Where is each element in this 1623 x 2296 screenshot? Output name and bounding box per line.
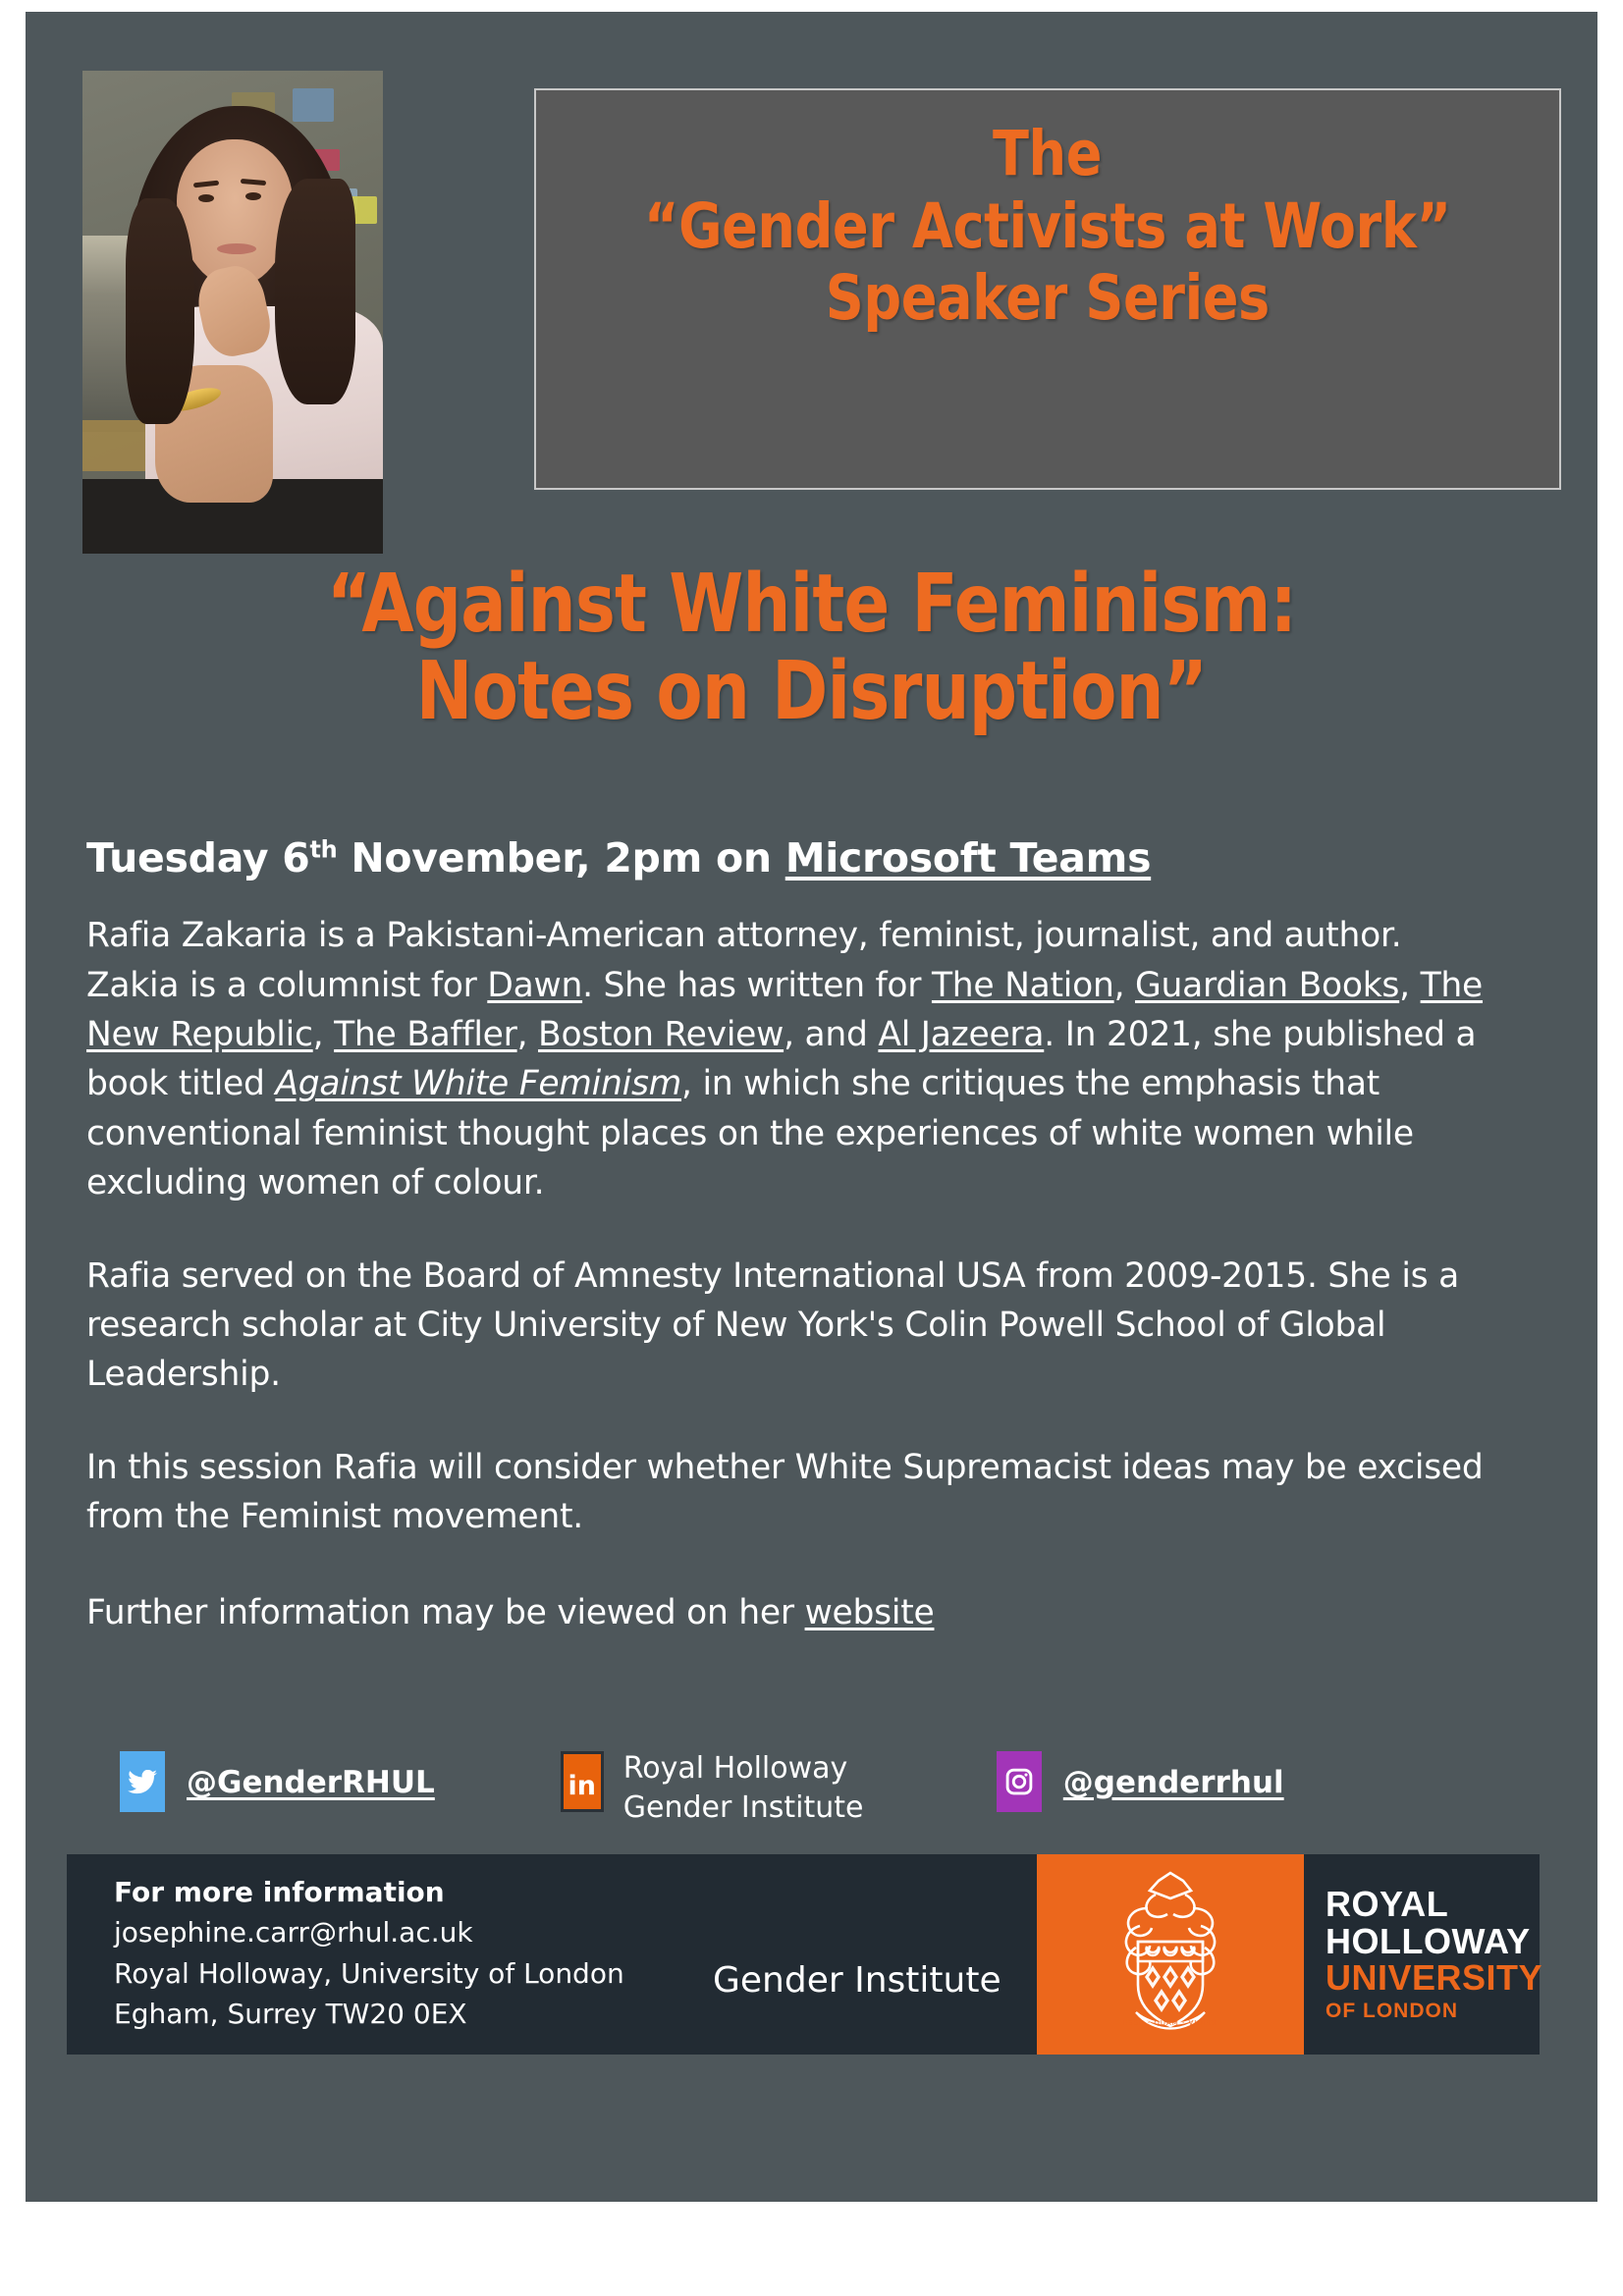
linkedin-page-label[interactable]: Royal Holloway Gender Institute [623,1749,918,1827]
page-title: “Against White Feminism: Notes on Disrup… [51,561,1572,735]
intro-text-4: , [1399,966,1420,1005]
further-prefix: Further information may be viewed on her [86,1593,805,1632]
series-line-1: The [994,118,1103,190]
date-middle: November, 2pm on [337,834,784,881]
wordmark-royal: ROYAL [1325,1886,1540,1922]
intro-text-2: . She has written for [582,966,932,1005]
link-dawn[interactable]: Dawn [487,966,582,1005]
intro-text-6: , [517,1015,538,1054]
photo-wall-note [293,88,334,122]
twitter-bird-icon[interactable] [120,1751,165,1812]
instagram-camera-icon[interactable] [997,1751,1042,1812]
intro-text-3: , [1114,966,1135,1005]
date-ordinal: th [309,835,337,863]
paragraph-session: In this session Rafia will consider whet… [86,1443,1490,1542]
photo-eye [198,194,214,202]
event-datetime-line: Tuesday 6th November, 2pm on Microsoft T… [86,834,1540,881]
paragraph-further-info: Further information may be viewed on her… [86,1588,1490,1637]
link-the-nation[interactable]: The Nation [932,966,1114,1005]
social-item-twitter[interactable]: @GenderRHUL [120,1751,435,1812]
crest-motto-text: ESSE · QUAM · VIDERI [1123,2019,1217,2027]
social-item-linkedin[interactable]: in Royal Holloway Gender Institute [561,1751,918,1827]
title-line-1: “Against White Feminism: [173,561,1450,649]
link-boston-review[interactable]: Boston Review [538,1015,784,1054]
instagram-handle[interactable]: @genderrhul [1063,1765,1284,1800]
gender-institute-label: Gender Institute [713,1960,1001,2001]
linkedin-icon[interactable]: in [561,1751,604,1812]
body-content: Tuesday 6th November, 2pm on Microsoft T… [86,834,1540,1638]
photo-lips [217,243,256,254]
intro-text-5: , [313,1015,334,1054]
book-title-against-white-feminism: Against White Feminism [275,1064,681,1103]
footer-heading: For more information [114,1872,624,1912]
footer-email[interactable]: josephine.carr@rhul.ac.uk [114,1912,624,1952]
linkedin-glyph: in [568,1773,596,1799]
wordmark-university: UNIVERSITY [1325,1959,1540,1996]
link-al-jazeera[interactable]: Al Jazeera [878,1015,1044,1054]
link-guardian-books[interactable]: Guardian Books [1135,966,1399,1005]
footer-band: For more information josephine.carr@rhul… [67,1854,1540,2055]
link-the-baffler[interactable]: The Baffler [334,1015,516,1054]
wordmark-holloway: HOLLOWAY [1325,1923,1540,1959]
date-prefix: Tuesday 6 [86,834,309,881]
website-link[interactable]: website [805,1593,935,1632]
twitter-handle[interactable]: @GenderRHUL [187,1765,435,1800]
footer-address-line-1: Royal Holloway, University of London [114,1953,624,1994]
royal-holloway-logo: ESSE · QUAM · VIDERI ROYAL HOLLOWAY UNIV… [1037,1854,1540,2055]
royal-holloway-wordmark: ROYAL HOLLOWAY UNIVERSITY OF LONDON [1304,1854,1540,2055]
series-line-2: “Gender Activists at Work” [644,190,1451,263]
intro-text-7: , and [784,1015,878,1054]
photo-hair-left [126,198,194,424]
poster-panel: The “Gender Activists at Work” Speaker S… [26,12,1597,2202]
wordmark-of-london: OF LONDON [1325,2000,1540,2023]
social-item-instagram[interactable]: @genderrhul [997,1751,1284,1812]
title-line-2: Notes on Disruption” [173,649,1450,736]
crest-icon: ESSE · QUAM · VIDERI [1037,1854,1304,2055]
footer-address-line-2: Egham, Surrey TW20 0EX [114,1994,624,2034]
series-line-3: Speaker Series [826,262,1270,335]
paragraph-intro: Rafia Zakaria is a Pakistani-American at… [86,911,1490,1207]
teams-link[interactable]: Microsoft Teams [785,834,1151,881]
speaker-series-box: The “Gender Activists at Work” Speaker S… [534,88,1561,490]
footer-contact-block: For more information josephine.carr@rhul… [114,1872,624,2035]
speaker-portrait-photo [82,71,383,554]
paragraph-board: Rafia served on the Board of Amnesty Int… [86,1252,1490,1400]
photo-hair-right [275,179,355,404]
photo-eye [245,192,261,200]
social-links-row: @GenderRHUL in Royal Holloway Gender Ins… [120,1751,1494,1827]
